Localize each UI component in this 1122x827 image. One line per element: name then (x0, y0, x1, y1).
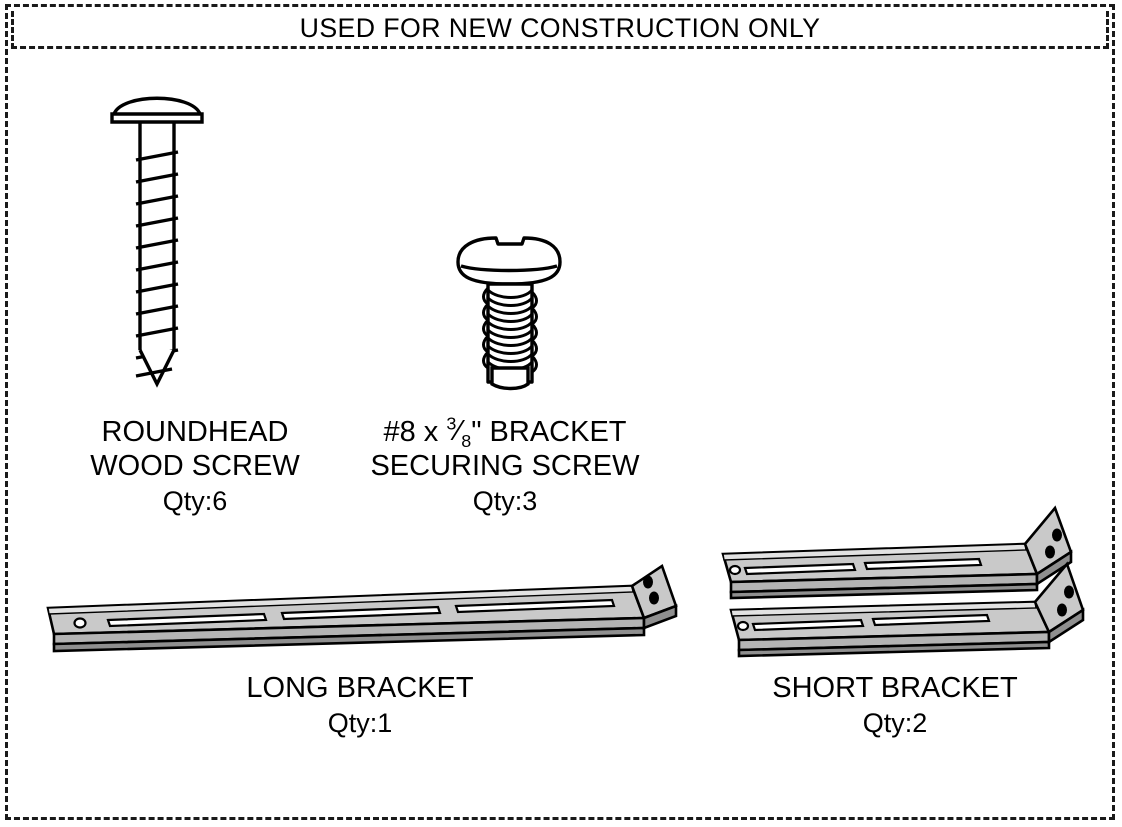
short-bracket-label: SHORT BRACKET Qty:2 (730, 672, 1060, 740)
securing-screw-label-line-2: SECURING SCREW (340, 450, 670, 484)
short-bracket-icon (705, 502, 1095, 667)
long-bracket-qty: Qty:1 (185, 708, 535, 740)
securing-screw-label-line-1: #8 x 3⁄8" BRACKET (340, 416, 670, 450)
short-bracket-label-line-1: SHORT BRACKET (730, 672, 1060, 706)
securing-screw-size-prefix: #8 x (383, 416, 446, 448)
wood-screw-label-line-1: ROUNDHEAD (20, 416, 370, 450)
parts-diagram-page: USED FOR NEW CONSTRUCTION ONLY (0, 0, 1122, 827)
securing-screw-label: #8 x 3⁄8" BRACKET SECURING SCREW Qty:3 (340, 416, 670, 517)
header-title: USED FOR NEW CONSTRUCTION ONLY (300, 13, 821, 44)
fraction-numerator: 3 (446, 413, 456, 433)
machine-screw-icon (452, 232, 572, 402)
fraction-three-eighths: 3⁄8 (446, 415, 471, 449)
wood-screw-qty: Qty:6 (20, 486, 370, 518)
long-bracket-icon (42, 562, 682, 667)
fraction-denominator: 8 (461, 431, 471, 451)
long-bracket-label-line-1: LONG BRACKET (185, 672, 535, 706)
long-bracket-label: LONG BRACKET Qty:1 (185, 672, 535, 740)
wood-screw-icon (96, 88, 226, 398)
securing-screw-size-suffix: " BRACKET (471, 416, 626, 448)
short-bracket-qty: Qty:2 (730, 708, 1060, 740)
header-banner: USED FOR NEW CONSTRUCTION ONLY (11, 11, 1109, 49)
wood-screw-label-line-2: WOOD SCREW (20, 450, 370, 484)
short-bracket-back (723, 508, 1071, 598)
wood-screw-label: ROUNDHEAD WOOD SCREW Qty:6 (20, 416, 370, 517)
securing-screw-qty: Qty:3 (340, 486, 670, 518)
